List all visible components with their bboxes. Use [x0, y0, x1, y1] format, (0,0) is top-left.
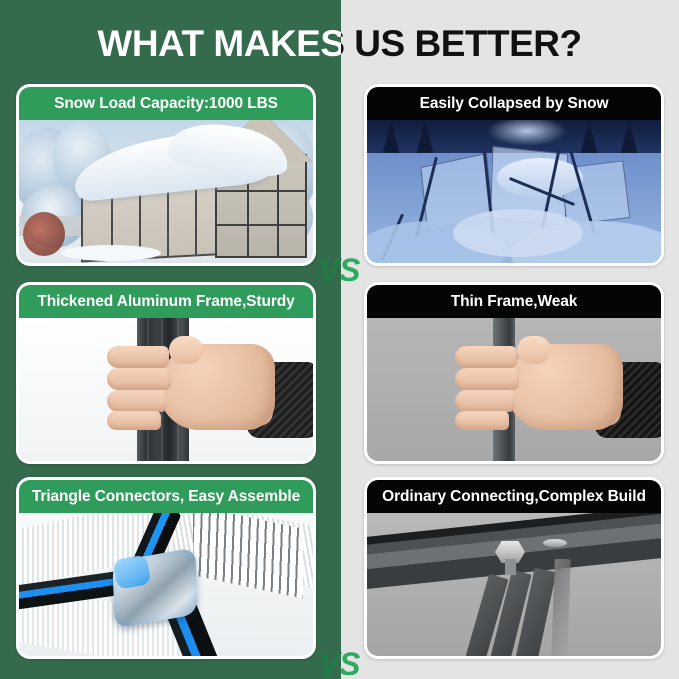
- photo-thick-frame-grip: [19, 318, 313, 461]
- white-backdrop: [19, 318, 313, 461]
- card-headline: Thickened Aluminum Frame,Sturdy: [19, 285, 313, 318]
- card-good-frame: Thickened Aluminum Frame,Sturdy: [16, 282, 316, 464]
- red-berry-shrub: [23, 212, 65, 256]
- finger: [455, 390, 515, 412]
- photo-bolt-connector: [367, 513, 661, 656]
- card-bad-frame: Thin Frame,Weak: [364, 282, 664, 464]
- card-headline: Triangle Connectors, Easy Assemble: [19, 480, 313, 513]
- washer: [543, 539, 567, 547]
- finger: [455, 368, 519, 390]
- finger: [107, 346, 169, 368]
- panel-ribs: [193, 513, 303, 599]
- card-headline: Easily Collapsed by Snow: [367, 87, 661, 120]
- page-title: WHAT MAKES US BETTER? WHAT MAKES US BETT…: [0, 20, 679, 68]
- photo-snow-covered-greenhouse: [19, 120, 313, 263]
- card-headline: Ordinary Connecting,Complex Build: [367, 480, 661, 513]
- angle-bracket: [551, 559, 570, 656]
- finger: [107, 411, 161, 430]
- thumb: [517, 336, 551, 364]
- card-good-connector: Triangle Connectors, Easy Assemble: [16, 477, 316, 659]
- gray-backdrop: [367, 318, 661, 461]
- card-headline: Thin Frame,Weak: [367, 285, 661, 318]
- infographic-canvas: WHAT MAKES US BETTER? WHAT MAKES US BETT…: [0, 0, 679, 679]
- photo-thin-frame-grip: [367, 318, 661, 461]
- card-headline: Snow Load Capacity:1000 LBS: [19, 87, 313, 120]
- comparison-row-connectors: Triangle Connectors, Easy Assemble Ordin…: [0, 477, 679, 667]
- thumb: [169, 336, 203, 364]
- finger: [107, 368, 171, 390]
- finger: [455, 411, 509, 430]
- photo-triangle-connector: [19, 513, 313, 656]
- snow-drift: [453, 209, 583, 257]
- comparison-row-snow-load: Snow Load Capacity:1000 LBS: [0, 84, 679, 274]
- finger: [107, 390, 167, 412]
- snow-pile-ground: [61, 245, 161, 261]
- card-good-snow-load: Snow Load Capacity:1000 LBS: [16, 84, 316, 266]
- comparison-row-frame-thickness: Thickened Aluminum Frame,Sturdy: [0, 282, 679, 472]
- card-bad-connector: Ordinary Connecting,Complex Build: [364, 477, 664, 659]
- finger: [455, 346, 517, 368]
- bolt-stem: [505, 559, 516, 575]
- photo-collapsed-greenhouse: [367, 120, 661, 263]
- card-bad-snow-load: Easily Collapsed by Snow: [364, 84, 664, 266]
